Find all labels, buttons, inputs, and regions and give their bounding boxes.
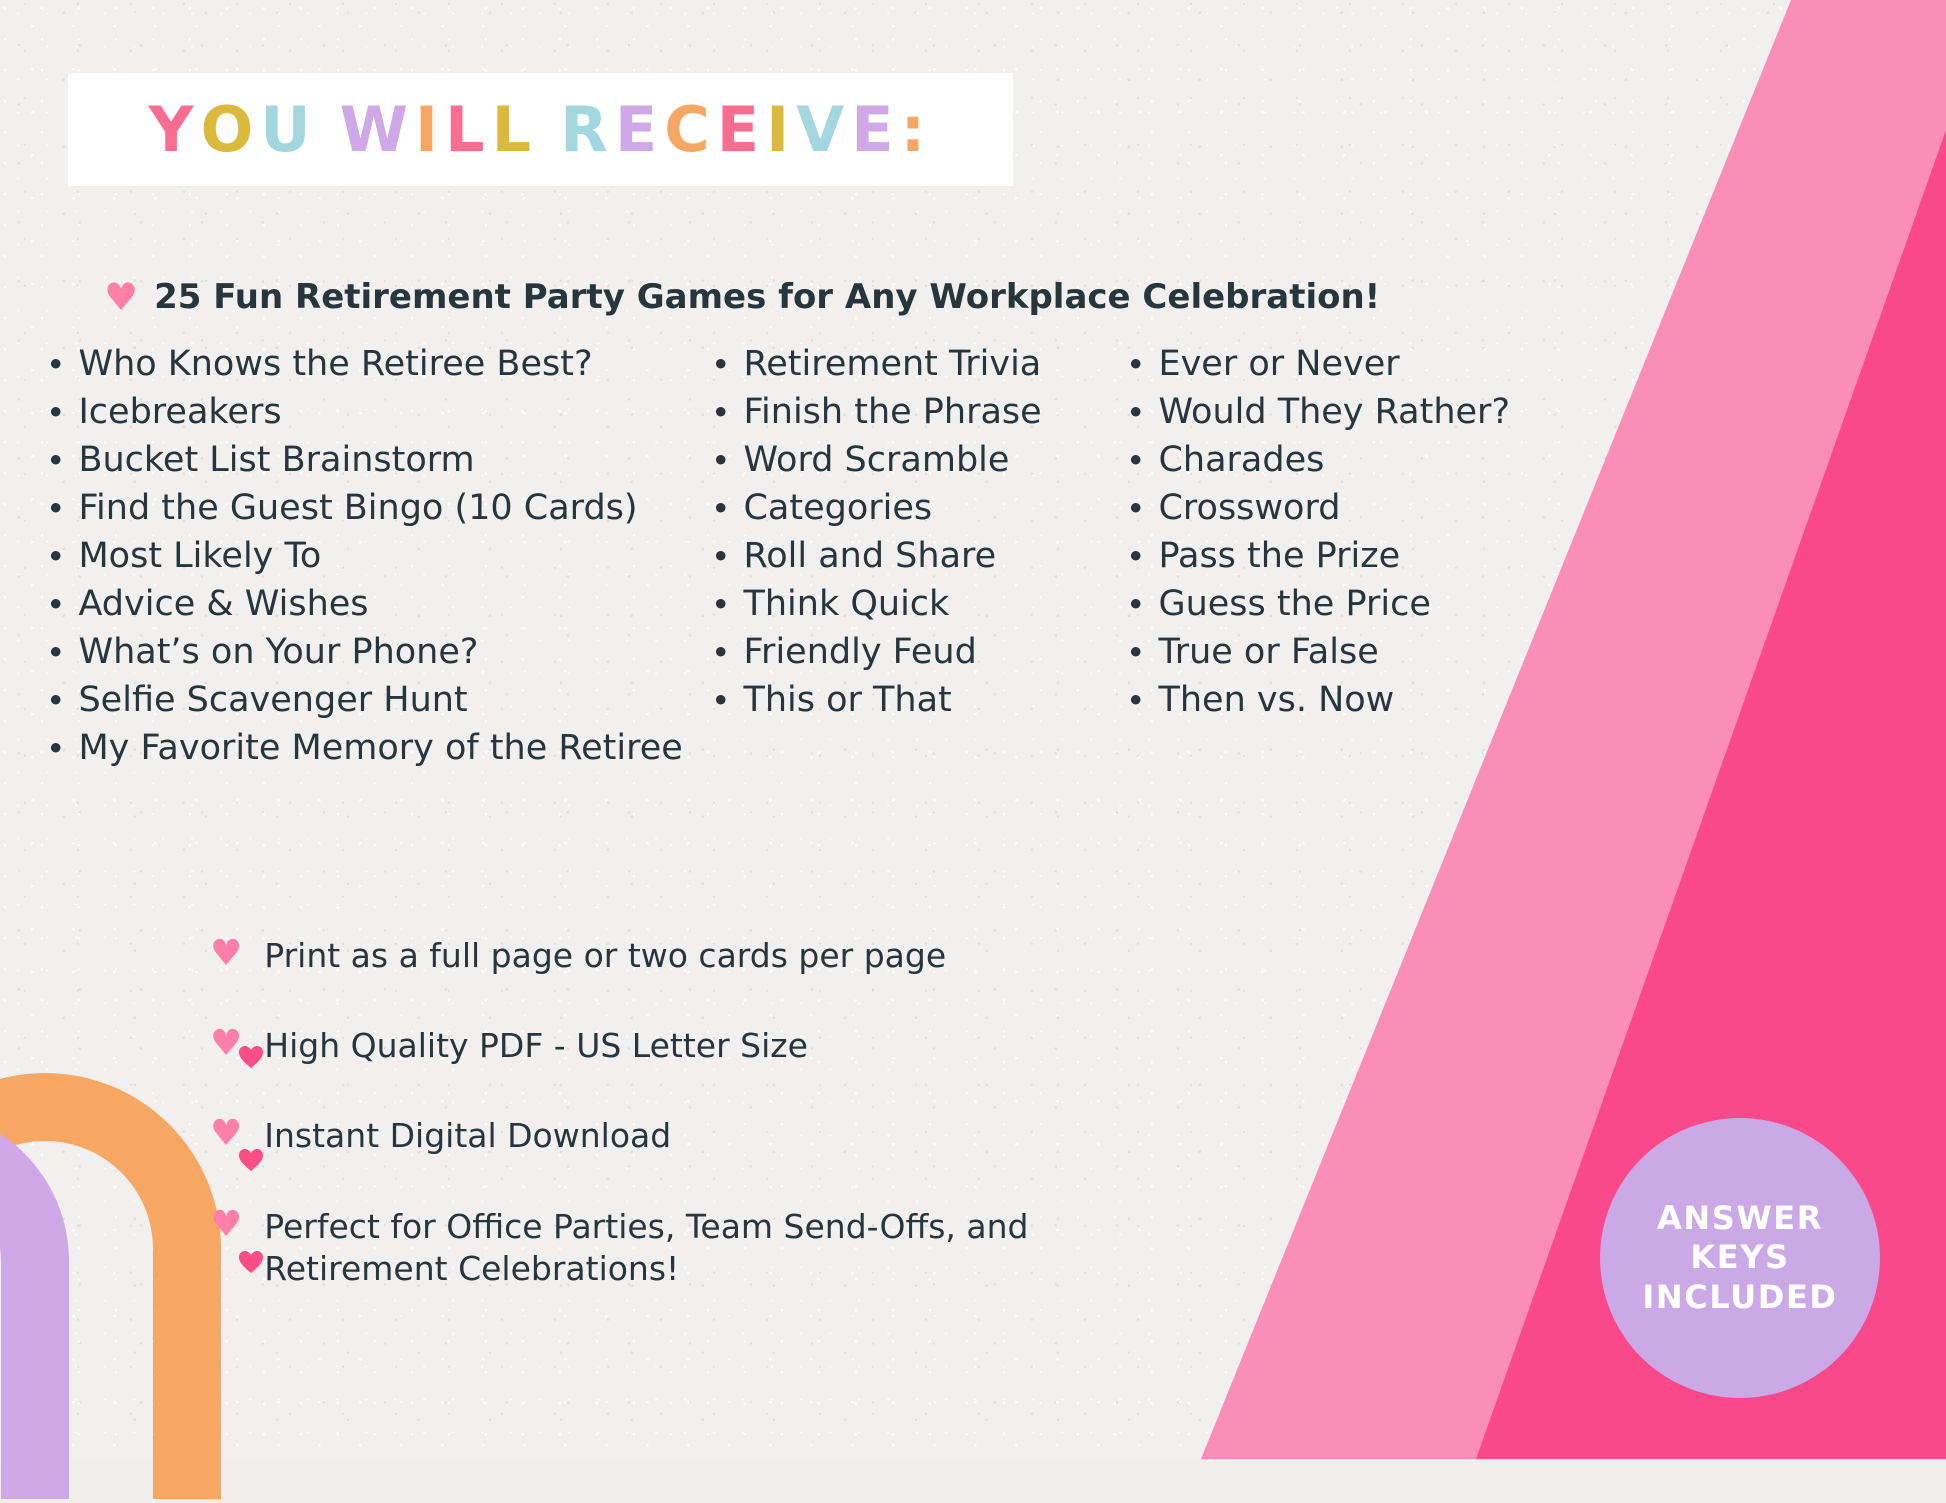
feature-item: ♥High Quality PDF - US Letter Size [210, 1025, 1110, 1067]
bullet-icon: • [711, 444, 730, 477]
bullet-icon: • [711, 396, 730, 429]
bullet-icon: • [46, 636, 65, 669]
game-list-item-label: This or That [743, 683, 951, 718]
game-list-item: •Categories [711, 484, 1126, 532]
bullet-icon: • [1126, 396, 1145, 429]
bullet-icon: • [711, 540, 730, 573]
bullet-icon: • [711, 588, 730, 621]
game-list-item: •Roll and Share [711, 532, 1126, 580]
bullet-icon: • [1126, 588, 1145, 621]
game-list-item-label: Categories [743, 491, 932, 526]
bullet-icon: • [1126, 540, 1145, 573]
game-list-item-label: Friendly Feud [743, 635, 976, 670]
game-list-item-label: Ever or Never [1158, 347, 1399, 382]
game-list-columns: •Who Knows the Retiree Best?•Icebreakers… [46, 340, 1476, 772]
game-list-item: •What’s on Your Phone? [46, 628, 711, 676]
heart-icon: ♥ [210, 1025, 242, 1063]
game-list-item: •Friendly Feud [711, 628, 1126, 676]
game-list-item-label: Then vs. Now [1158, 683, 1394, 718]
game-list-item: •Think Quick [711, 580, 1126, 628]
bullet-icon: • [711, 636, 730, 669]
game-list-item-label: Pass the Prize [1158, 539, 1400, 574]
game-list-item-label: Finish the Phrase [743, 395, 1041, 430]
badge-line-2: KEYS [1690, 1238, 1789, 1277]
feature-item: ♥Print as a full page or two cards per p… [210, 935, 1110, 977]
heart-icon: ♥ [210, 1206, 242, 1244]
bullet-icon: • [46, 444, 65, 477]
feature-item: ♥Instant Digital Download [210, 1115, 1110, 1157]
feature-item: ♥Perfect for Office Parties, Team Send-O… [210, 1206, 1110, 1290]
feature-item-label: Instant Digital Download [264, 1115, 671, 1157]
heart-icon: ♥ [210, 1115, 242, 1153]
bullet-icon: • [46, 540, 65, 573]
game-list-item: •Pass the Prize [1126, 532, 1476, 580]
game-list-item-label: Icebreakers [78, 395, 281, 430]
bullet-icon: • [711, 348, 730, 381]
game-list-item: •Who Knows the Retiree Best? [46, 340, 711, 388]
game-list-item-label: Would They Rather? [1158, 395, 1510, 430]
game-column-1: •Who Knows the Retiree Best?•Icebreakers… [46, 340, 711, 772]
game-column-2: •Retirement Trivia•Finish the Phrase•Wor… [711, 340, 1126, 772]
subtitle-row: ♥ 25 Fun Retirement Party Games for Any … [104, 277, 1380, 317]
bullet-icon: • [1126, 444, 1145, 477]
game-list-item-label: Bucket List Brainstorm [78, 443, 474, 478]
bullet-icon: • [46, 492, 65, 525]
bullet-icon: • [1126, 636, 1145, 669]
game-list-item-label: Advice & Wishes [78, 587, 368, 622]
bullet-icon: • [46, 396, 65, 429]
game-list-item-label: Word Scramble [743, 443, 1009, 478]
bullet-icon: • [46, 348, 65, 381]
feature-item-label: Print as a full page or two cards per pa… [264, 935, 946, 977]
bullet-icon: • [711, 684, 730, 717]
game-list-item-label: Roll and Share [743, 539, 996, 574]
game-list-item-label: Guess the Price [1158, 587, 1430, 622]
badge-line-3: INCLUDED [1642, 1278, 1837, 1317]
game-list-item: •Would They Rather? [1126, 388, 1476, 436]
game-list-item-label: What’s on Your Phone? [78, 635, 478, 670]
subtitle-text: 25 Fun Retirement Party Games for Any Wo… [154, 277, 1380, 317]
game-list-item-label: Most Likely To [78, 539, 321, 574]
game-list-item: •Crossword [1126, 484, 1476, 532]
feature-item-label: Perfect for Office Parties, Team Send-Of… [264, 1206, 1110, 1290]
game-list-item: •This or That [711, 676, 1126, 724]
game-list-item-label: Who Knows the Retiree Best? [78, 347, 592, 382]
bullet-icon: • [46, 588, 65, 621]
game-list-item: •Ever or Never [1126, 340, 1476, 388]
game-list-item: •Bucket List Brainstorm [46, 436, 711, 484]
bullet-icon: • [1126, 684, 1145, 717]
answer-keys-badge: ANSWER KEYS INCLUDED [1600, 1118, 1880, 1398]
bullet-icon: • [711, 492, 730, 525]
game-list-item: •Icebreakers [46, 388, 711, 436]
feature-item-label: High Quality PDF - US Letter Size [264, 1025, 808, 1067]
feature-list: ♥Print as a full page or two cards per p… [210, 935, 1110, 1338]
bullet-icon: • [46, 684, 65, 717]
game-list-item: •Word Scramble [711, 436, 1126, 484]
game-list-item-label: Crossword [1158, 491, 1340, 526]
game-list-item: •Guess the Price [1126, 580, 1476, 628]
game-list-item-label: My Favorite Memory of the Retiree [78, 731, 682, 766]
heart-icon: ♥ [104, 278, 138, 316]
game-list-item-label: Selfie Scavenger Hunt [78, 683, 467, 718]
game-list-item: •Selfie Scavenger Hunt [46, 676, 711, 724]
bullet-icon: • [1126, 348, 1145, 381]
game-column-3: •Ever or Never•Would They Rather?•Charad… [1126, 340, 1476, 772]
game-list-item-label: Think Quick [743, 587, 949, 622]
game-list-item: •True or False [1126, 628, 1476, 676]
game-list-item: •Finish the Phrase [711, 388, 1126, 436]
game-list-item: •Most Likely To [46, 532, 711, 580]
bullet-icon: • [1126, 492, 1145, 525]
bullet-icon: • [46, 732, 65, 765]
game-list-item: •Advice & Wishes [46, 580, 711, 628]
game-list-item: •Then vs. Now [1126, 676, 1476, 724]
game-list-item: •Charades [1126, 436, 1476, 484]
game-list-item-label: Charades [1158, 443, 1324, 478]
game-list-item-label: Retirement Trivia [743, 347, 1041, 382]
heart-icon: ♥ [210, 935, 242, 973]
badge-line-1: ANSWER [1657, 1199, 1823, 1238]
game-list-item-label: Find the Guest Bingo (10 Cards) [78, 491, 637, 526]
game-list-item: •My Favorite Memory of the Retiree [46, 724, 711, 772]
game-list-item-label: True or False [1158, 635, 1378, 670]
game-list-item: •Retirement Trivia [711, 340, 1126, 388]
game-list-item: •Find the Guest Bingo (10 Cards) [46, 484, 711, 532]
